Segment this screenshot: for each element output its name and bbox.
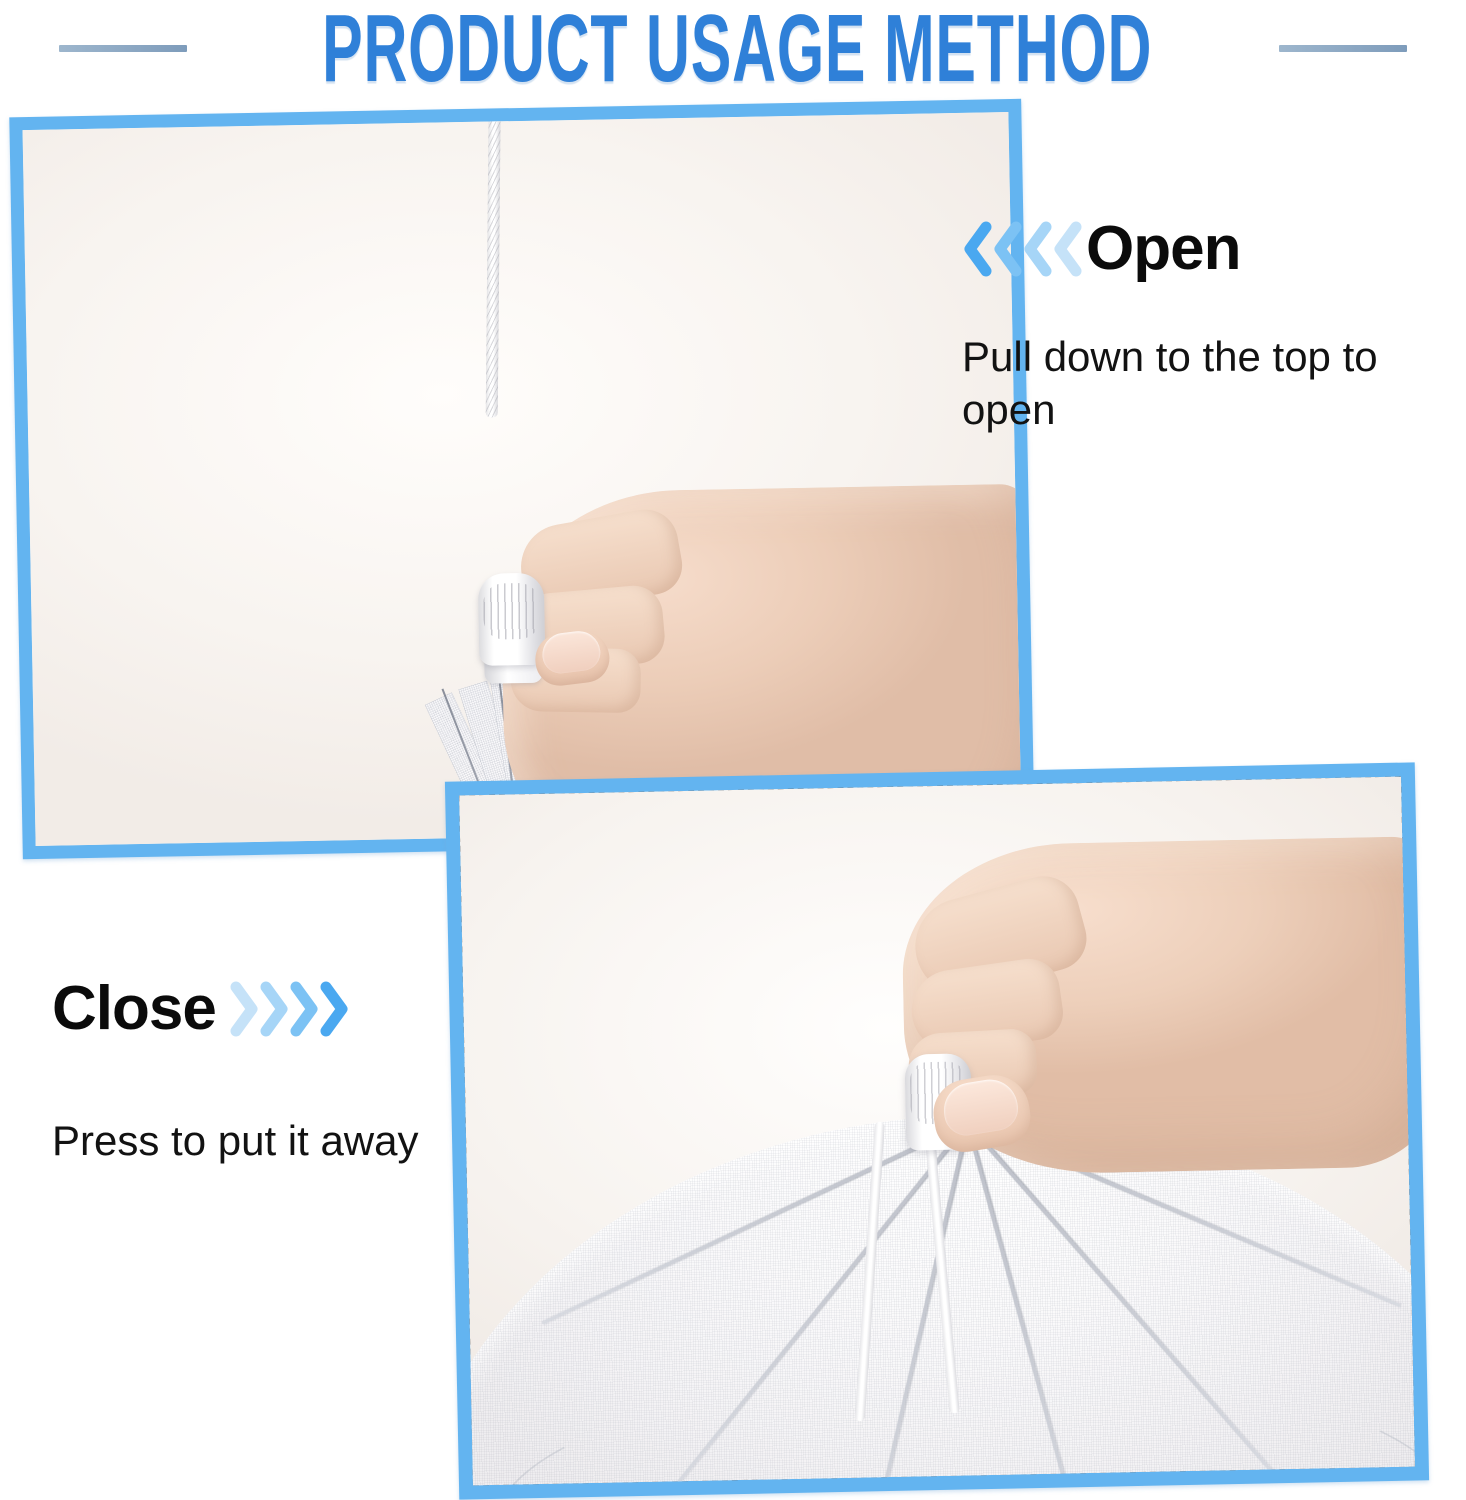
caption-open-heading-row: Open bbox=[962, 206, 1462, 292]
photo-panel-close bbox=[445, 762, 1429, 1499]
caption-close-description: Press to put it away bbox=[52, 1114, 492, 1167]
chevron-left-icon bbox=[1052, 221, 1082, 277]
chevrons-right-group bbox=[230, 981, 350, 1037]
caption-close-heading: Close bbox=[52, 976, 216, 1042]
infographic-page: PRODUCT USAGE METHOD bbox=[0, 0, 1466, 1500]
page-title: PRODUCT USAGE METHOD bbox=[322, 0, 1152, 99]
photo-panel-open bbox=[9, 99, 1034, 859]
page-title-row: PRODUCT USAGE METHOD bbox=[0, 0, 1466, 96]
photo-open bbox=[23, 112, 1022, 846]
chevron-left-icon bbox=[992, 221, 1022, 277]
caption-open: Open Pull down to the top to open bbox=[962, 206, 1462, 436]
caption-close-heading-row: Close bbox=[52, 966, 492, 1052]
title-rule-left bbox=[59, 45, 187, 52]
chevron-right-icon bbox=[320, 981, 350, 1037]
chevron-left-icon bbox=[1022, 221, 1052, 277]
caption-open-heading: Open bbox=[1086, 216, 1240, 282]
chevrons-left-group bbox=[962, 221, 1082, 277]
chevron-right-icon bbox=[230, 981, 260, 1037]
chevron-right-icon bbox=[290, 981, 320, 1037]
photo-close bbox=[459, 777, 1415, 1486]
chevron-left-icon bbox=[962, 221, 992, 277]
caption-close: Close Press to put it away bbox=[52, 966, 492, 1167]
title-rule-right bbox=[1279, 45, 1407, 52]
chevron-right-icon bbox=[260, 981, 290, 1037]
caption-open-description: Pull down to the top to open bbox=[962, 330, 1462, 436]
